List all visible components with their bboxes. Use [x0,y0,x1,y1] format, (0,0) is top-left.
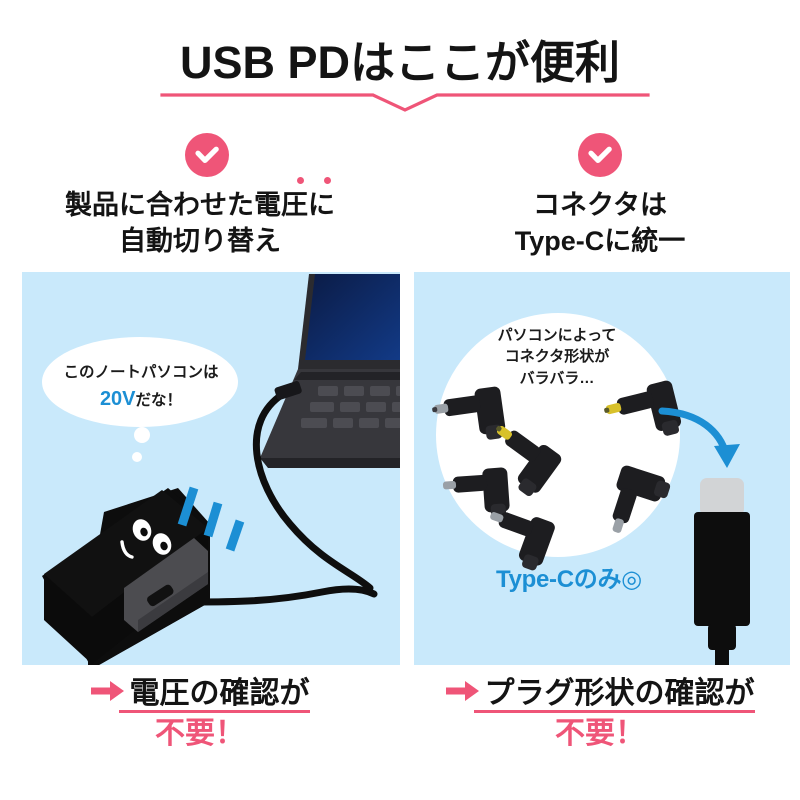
conclusion-underline [119,710,310,713]
arrow-right-icon [446,676,480,710]
column-heading-left: 製品に合わせた電圧に 自動切り替え [4,188,396,259]
check-circle-icon [578,133,622,177]
emphasis-dot [297,177,304,184]
page-title: USB PDはここが便利 [0,26,800,91]
circle-note-text: パソコンによって コネクタ形状が バラバラ… [462,325,652,389]
illustration-panel-voltage: このノートパソコンは 20Vだな！ [22,272,400,665]
laptop-icon [260,274,400,468]
speech-line-2-tail: だな！ [136,392,183,409]
conclusion-line-1: 電圧の確認が [130,677,310,710]
speech-line-1: このノートパソコンは [44,361,238,384]
heading-line-1: 製品に合わせた電圧に [65,190,335,220]
voltage-value: 20V [100,388,136,410]
conclusion-line-2: 不要！ [4,718,396,750]
conclusion-line-2: 不要！ [404,718,796,750]
laptop-charger-illustration [22,272,400,665]
conclusion-left: 電圧の確認が 不要！ [4,676,396,749]
conclusion-line-1-row: プラグ形状の確認が [446,676,755,711]
heading-line-2: 自動切り替え [4,224,396,260]
check-circle-icon [185,133,229,177]
emphasis-dot [324,177,331,184]
conclusion-line-1-row: 電圧の確認が [91,676,310,711]
conclusion-right: プラグ形状の確認が 不要！ [404,676,796,749]
column-heading-right: コネクタは Type-Cに統一 [404,188,796,259]
infographic-page: USB PDはここが便利 製品に合わせた電圧に 自動切り替え コネクタは Typ… [0,0,800,800]
heading-line-1: コネクタは [404,188,796,224]
typec-only-label: Type-Cのみ◎ [496,559,642,594]
heading-line-2: Type-Cに統一 [404,224,796,260]
usb-type-c-connector-icon [694,478,750,665]
conclusion-underline [474,710,755,713]
conclusion-line-1: プラグ形状の確認が [485,677,755,710]
illustration-panel-connector: パソコンによって コネクタ形状が バラバラ… Type-Cのみ◎ [414,272,790,665]
title-underline-rule [160,86,650,112]
circle-note-line-3: バラバラ… [462,368,652,389]
speech-bubble-text: このノートパソコンは 20Vだな！ [44,361,238,414]
circle-note-line-2: コネクタ形状が [462,346,652,367]
arrow-right-icon [91,676,125,710]
circle-note-line-1: パソコンによって [462,325,652,346]
